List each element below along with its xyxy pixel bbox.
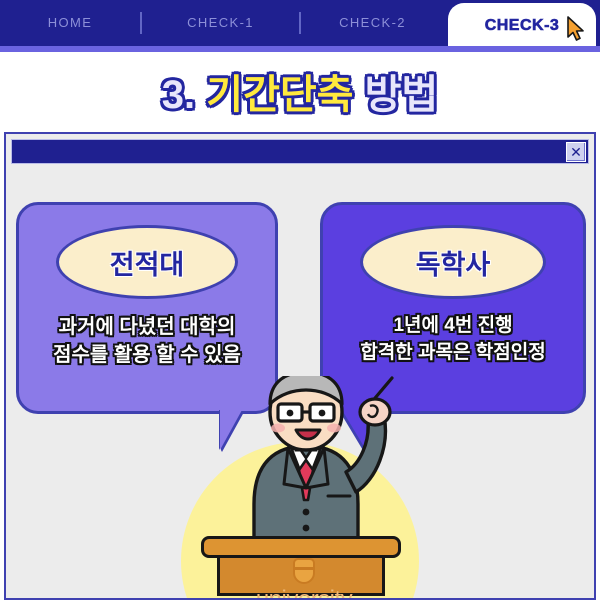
mouse-pointer-icon — [566, 16, 588, 42]
page-title-highlight: 기간단축 — [206, 73, 353, 117]
page-title-band: 3. 기간단축 방법 — [0, 52, 600, 130]
podium-top-rail — [201, 536, 401, 558]
page-title-suffix: 방법 — [365, 73, 439, 117]
active-tab-label: CHECK-3 — [485, 17, 560, 35]
page-root: HOME CHECK-1 CHECK-2 CHECK-3 3. 기간단축 방법 … — [0, 0, 600, 600]
shield-emblem-icon — [293, 558, 315, 584]
page-title: 3. 기간단축 방법 — [162, 62, 438, 120]
bubble-right-line-1: 1년에 4번 진행 — [323, 313, 583, 340]
bubble-right-line-2: 합격한 과목은 학점인정 — [323, 340, 583, 367]
bubble-left-line-1: 과거에 다녔던 대학의 — [19, 313, 275, 341]
podium: university — [201, 536, 401, 596]
bubble-right-text: 1년에 4번 진행 합격한 과목은 학점인정 — [323, 313, 583, 367]
bubble-left-badge-label: 전적대 — [110, 243, 185, 282]
bubble-right-badge-label: 독학사 — [416, 243, 491, 282]
podium-body: university — [217, 556, 385, 596]
podium-logo: university — [220, 558, 388, 600]
nav-item-check-1[interactable]: CHECK-1 — [142, 0, 299, 46]
bubble-left-badge: 전적대 — [56, 225, 238, 299]
close-icon[interactable]: ✕ — [566, 142, 586, 162]
bubble-right-badge: 독학사 — [360, 225, 546, 299]
bubble-left-line-2: 점수를 활용 할 수 있음 — [19, 341, 275, 369]
nav-item-home[interactable]: HOME — [0, 0, 140, 46]
page-title-number: 3. — [162, 73, 195, 117]
illustration-stage: 전적대 과거에 다녔던 대학의 점수를 활용 할 수 있음 독학사 1년에 4번… — [6, 164, 594, 596]
window-titlebar: ✕ — [11, 139, 589, 164]
bubble-left-text: 과거에 다녔던 대학의 점수를 활용 할 수 있음 — [19, 313, 275, 370]
nav-item-check-2[interactable]: CHECK-2 — [301, 0, 444, 46]
nav-divider-2 — [299, 12, 301, 34]
top-navigation-bar: HOME CHECK-1 CHECK-2 CHECK-3 — [0, 0, 600, 46]
nav-divider-1 — [140, 12, 142, 34]
podium-word: university — [256, 586, 352, 600]
content-window-panel: ✕ 전적대 과거에 다녔던 대학의 점수를 활용 할 수 있음 독학사 — [4, 132, 596, 600]
